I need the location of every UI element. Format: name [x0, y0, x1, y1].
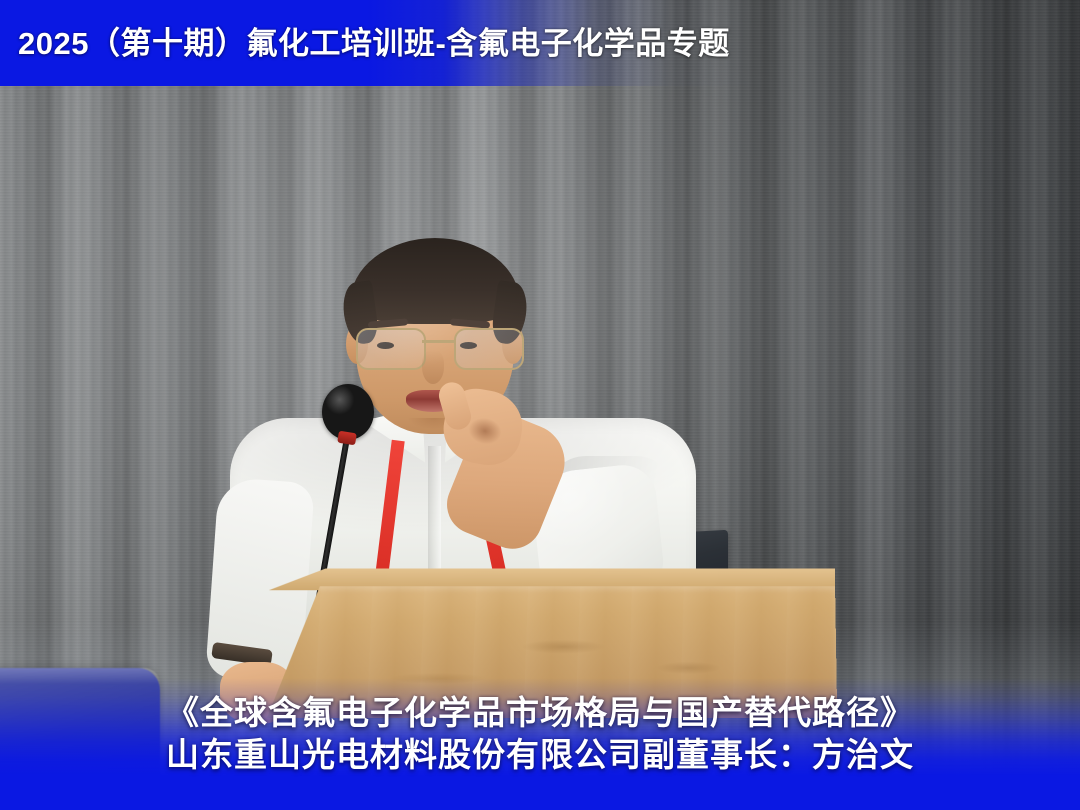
lens-right	[454, 328, 524, 370]
nose	[422, 350, 444, 384]
top-title-banner: 2025（第十期）氟化工培训班-含氟电子化学品专题	[0, 0, 1080, 86]
bottom-caption-banner: 《全球含氟电子化学品市场格局与国产替代路径》 山东重山光电材料股份有限公司副董事…	[0, 678, 1080, 810]
presenter-affiliation-and-name: 山东重山光电材料股份有限公司副董事长：方治文	[166, 734, 914, 776]
lens-left	[356, 328, 426, 370]
video-frame: 2025（第十期）氟化工培训班-含氟电子化学品专题 《全球含氟电子化学品市场格局…	[0, 0, 1080, 810]
event-title: 2025（第十期）氟化工培训班-含氟电子化学品专题	[18, 28, 730, 59]
microphone-collar	[337, 431, 357, 446]
glasses-bridge	[422, 340, 454, 343]
presentation-title: 《全球含氟电子化学品市场格局与国产替代路径》	[166, 692, 914, 734]
